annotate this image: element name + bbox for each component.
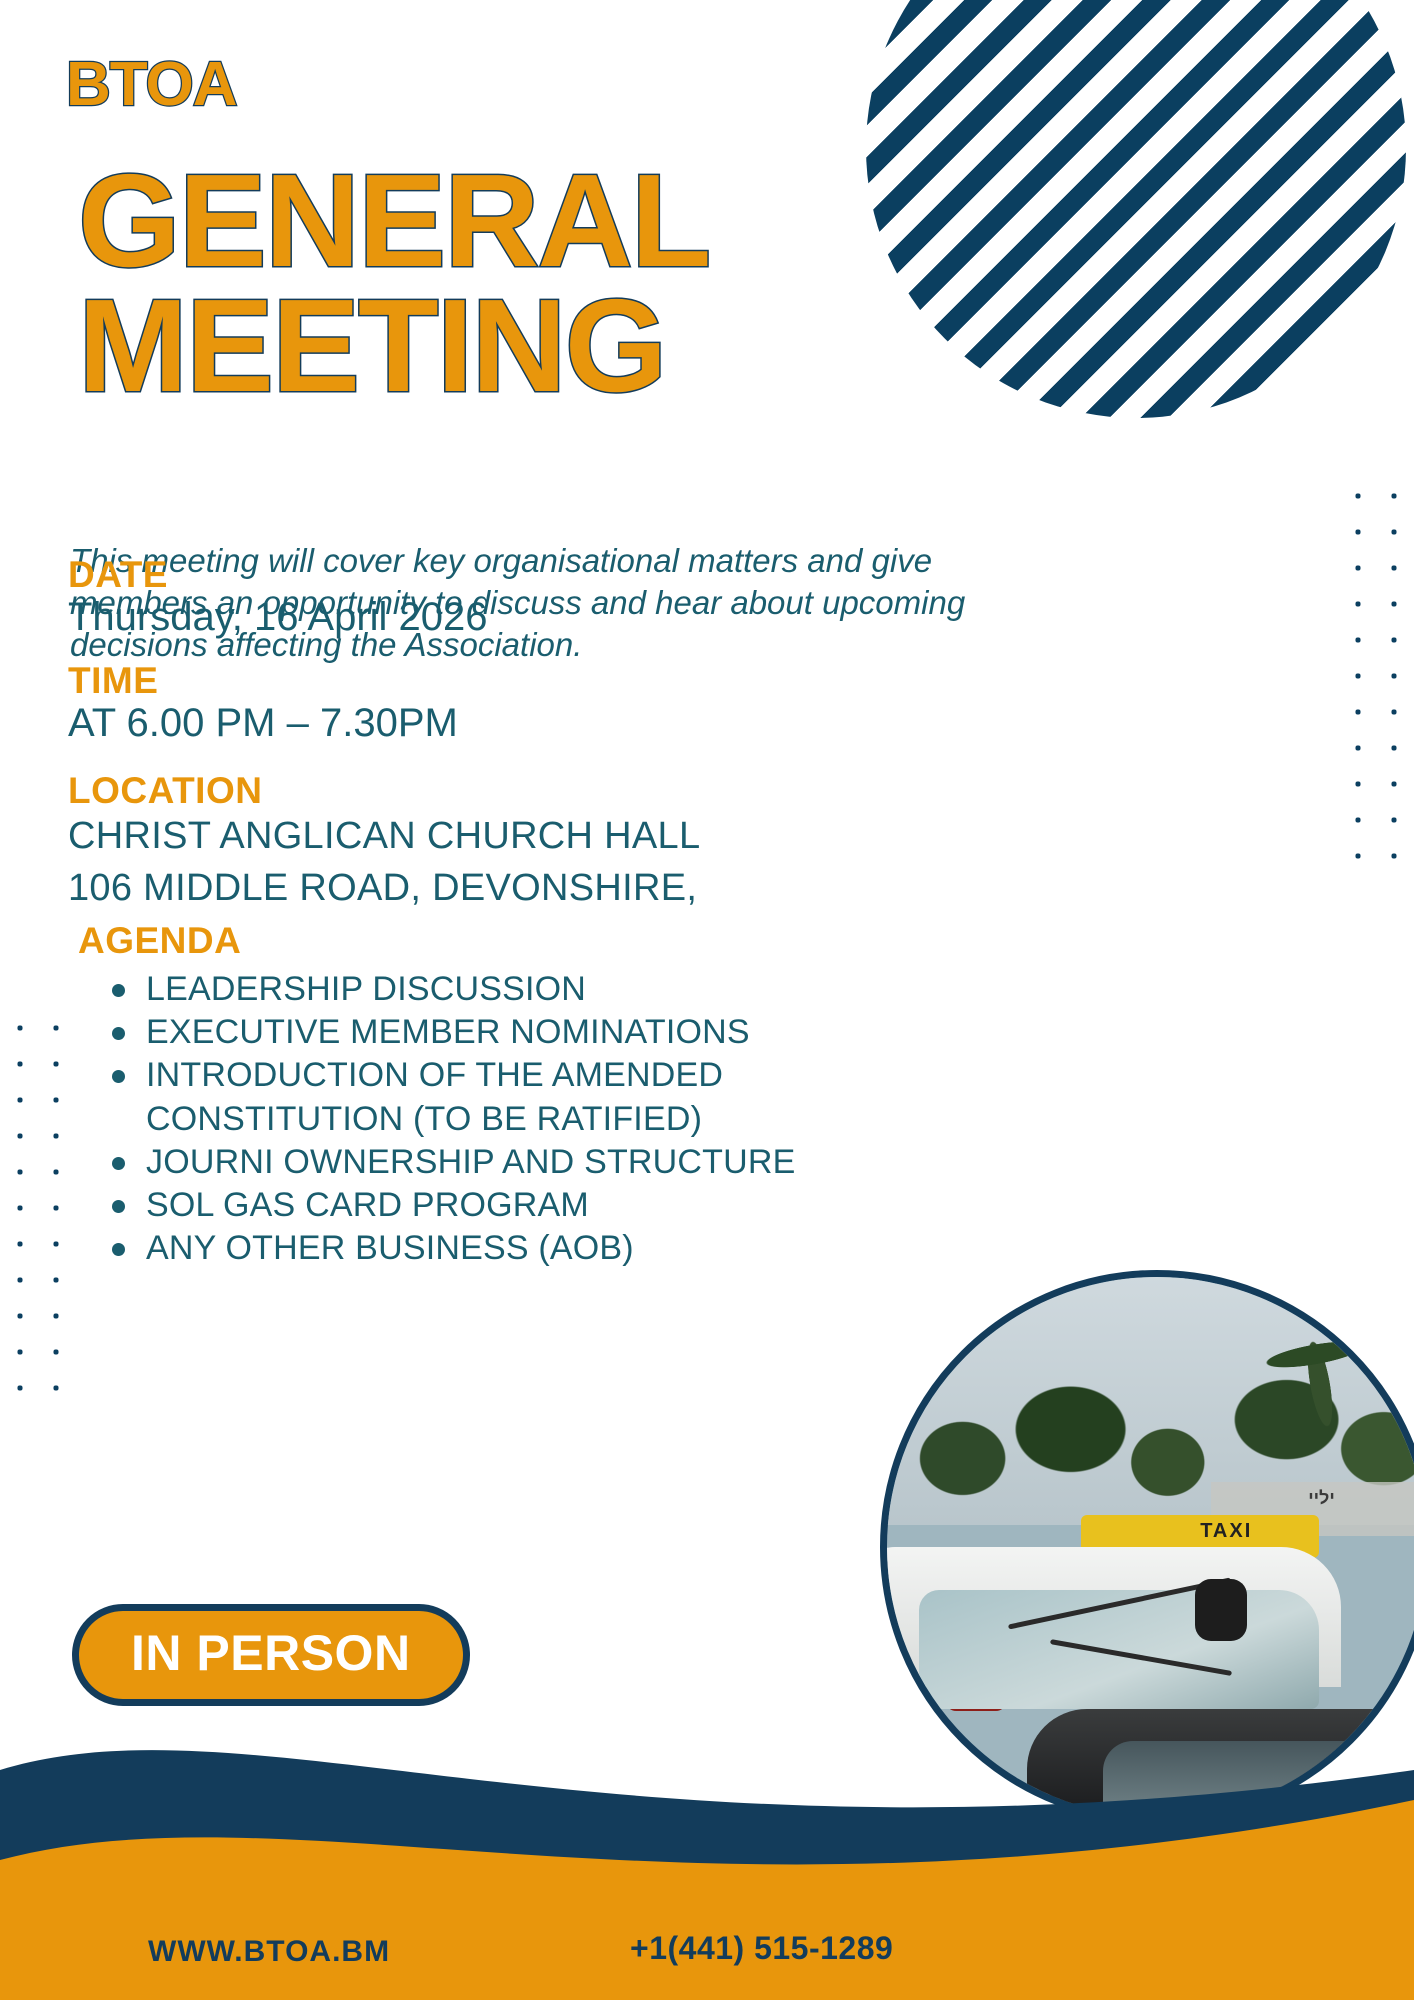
agenda-item-text: LEADERSHIP DISCUSSION — [146, 970, 586, 1008]
agenda-item-text: INTRODUCTION OF THE AMENDED — [146, 1056, 723, 1094]
agenda-label: AGENDA — [78, 920, 998, 962]
attendance-mode-badge[interactable]: IN PERSON — [72, 1604, 470, 1706]
taxi-sign-text: TAXI — [1200, 1520, 1252, 1543]
poster-canvas: BTOA GENERAL MEETING This meeting will c… — [0, 0, 1414, 2000]
footer-website[interactable]: WWW.BTOA.BM — [148, 1935, 390, 1969]
page-title: GENERAL MEETING — [78, 158, 978, 409]
time-label: TIME — [68, 662, 1068, 701]
agenda-item: SOL GAS CARD PROGRAM — [112, 1184, 998, 1227]
taxi-photo: יליי TAXI — [880, 1270, 1414, 1824]
date-block: DATE Thursday, 16 April 2026 — [68, 556, 1068, 640]
location-line-2: 106 MIDDLE ROAD, DEVONSHIRE, — [68, 863, 1068, 915]
agenda-item-continuation: CONSTITUTION (TO BE RATIFIED) — [146, 1098, 998, 1141]
location-block: LOCATION CHRIST ANGLICAN CHURCH HALL 106… — [68, 772, 1068, 914]
photo-rearview-mirror — [1195, 1579, 1247, 1641]
photo-shop-sign: יליי — [1308, 1488, 1335, 1509]
agenda-item: LEADERSHIP DISCUSSION — [112, 968, 998, 1011]
agenda-block: AGENDA LEADERSHIP DISCUSSION EXECUTIVE M… — [78, 920, 998, 1270]
agenda-item-text: ANY OTHER BUSINESS (AOB) — [146, 1229, 634, 1267]
dot-grid-left-decoration — [2, 1010, 60, 1410]
agenda-item: EXECUTIVE MEMBER NOMINATIONS — [112, 1011, 998, 1054]
location-label: LOCATION — [68, 772, 1068, 811]
palm-tree-icon — [1233, 1298, 1407, 1472]
dot-grid-right-decoration — [1340, 478, 1400, 878]
agenda-item: JOURNI OWNERSHIP AND STRUCTURE — [112, 1141, 998, 1184]
agenda-item: INTRODUCTION OF THE AMENDED CONSTITUTION… — [112, 1054, 998, 1140]
agenda-list: LEADERSHIP DISCUSSION EXECUTIVE MEMBER N… — [78, 968, 998, 1270]
agenda-item-text: EXECUTIVE MEMBER NOMINATIONS — [146, 1013, 750, 1051]
agenda-item-text: SOL GAS CARD PROGRAM — [146, 1186, 589, 1224]
agenda-item: ANY OTHER BUSINESS (AOB) — [112, 1227, 998, 1270]
agenda-item-text: JOURNI OWNERSHIP AND STRUCTURE — [146, 1143, 796, 1181]
photo-foreground-car-window — [1103, 1741, 1405, 1806]
location-line-1: CHRIST ANGLICAN CHURCH HALL — [68, 811, 1068, 863]
date-value: Thursday, 16 April 2026 — [68, 595, 1068, 641]
time-value: AT 6.00 PM – 7.30PM — [68, 701, 1068, 747]
title-line-2: MEETING — [78, 283, 978, 408]
date-label: DATE — [68, 556, 1068, 595]
title-line-1: GENERAL — [78, 158, 978, 283]
time-block: TIME AT 6.00 PM – 7.30PM — [68, 662, 1068, 746]
footer-phone[interactable]: +1(441) 515-1289 — [630, 1930, 893, 1967]
photo-windshield — [919, 1590, 1319, 1709]
btoa-logo: BTOA — [66, 54, 237, 116]
